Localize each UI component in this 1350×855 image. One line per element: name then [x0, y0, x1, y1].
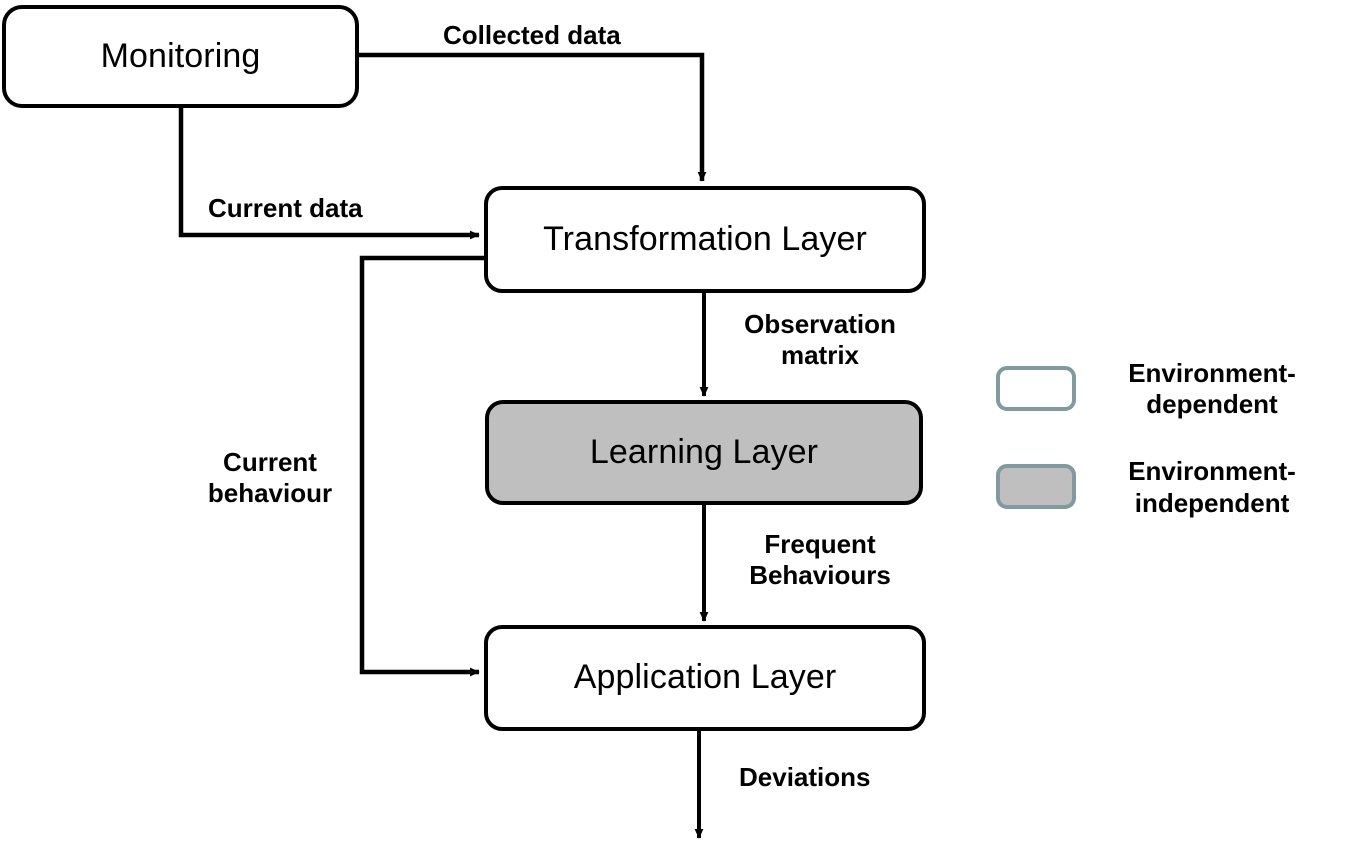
legend: Environment- dependent Environment- inde… — [996, 358, 1346, 555]
node-application-layer-label: Application Layer — [574, 659, 837, 696]
diagram-canvas: Monitoring Transformation Layer Learning… — [0, 0, 1350, 855]
node-monitoring[interactable]: Monitoring — [2, 5, 359, 108]
edge-label-collected-data: Collected data — [443, 20, 621, 51]
legend-swatch-environment-dependent — [996, 366, 1076, 411]
edge-label-current-behaviour: Current behaviour — [186, 447, 354, 508]
node-transformation-layer-label: Transformation Layer — [543, 221, 867, 258]
node-learning-layer-label: Learning Layer — [590, 434, 818, 471]
edge-label-frequent-behaviours: Frequent Behaviours — [724, 529, 916, 590]
edge-label-observation-matrix: Observation matrix — [724, 309, 916, 370]
node-monitoring-label: Monitoring — [101, 38, 261, 75]
legend-label-environment-independent: Environment- independent — [1102, 456, 1322, 518]
edge-collected-data-line — [359, 55, 702, 181]
edge-label-current-data: Current data — [208, 193, 363, 224]
node-application-layer[interactable]: Application Layer — [484, 625, 926, 731]
legend-item-environment-dependent: Environment- dependent — [996, 358, 1346, 420]
legend-item-environment-independent: Environment- independent — [996, 456, 1346, 518]
legend-swatch-environment-independent — [996, 464, 1076, 509]
edge-label-deviations: Deviations — [739, 762, 871, 793]
node-learning-layer[interactable]: Learning Layer — [485, 400, 923, 505]
legend-label-environment-dependent: Environment- dependent — [1102, 358, 1322, 420]
node-transformation-layer[interactable]: Transformation Layer — [484, 186, 926, 293]
edge-current-behaviour-line — [362, 258, 484, 672]
